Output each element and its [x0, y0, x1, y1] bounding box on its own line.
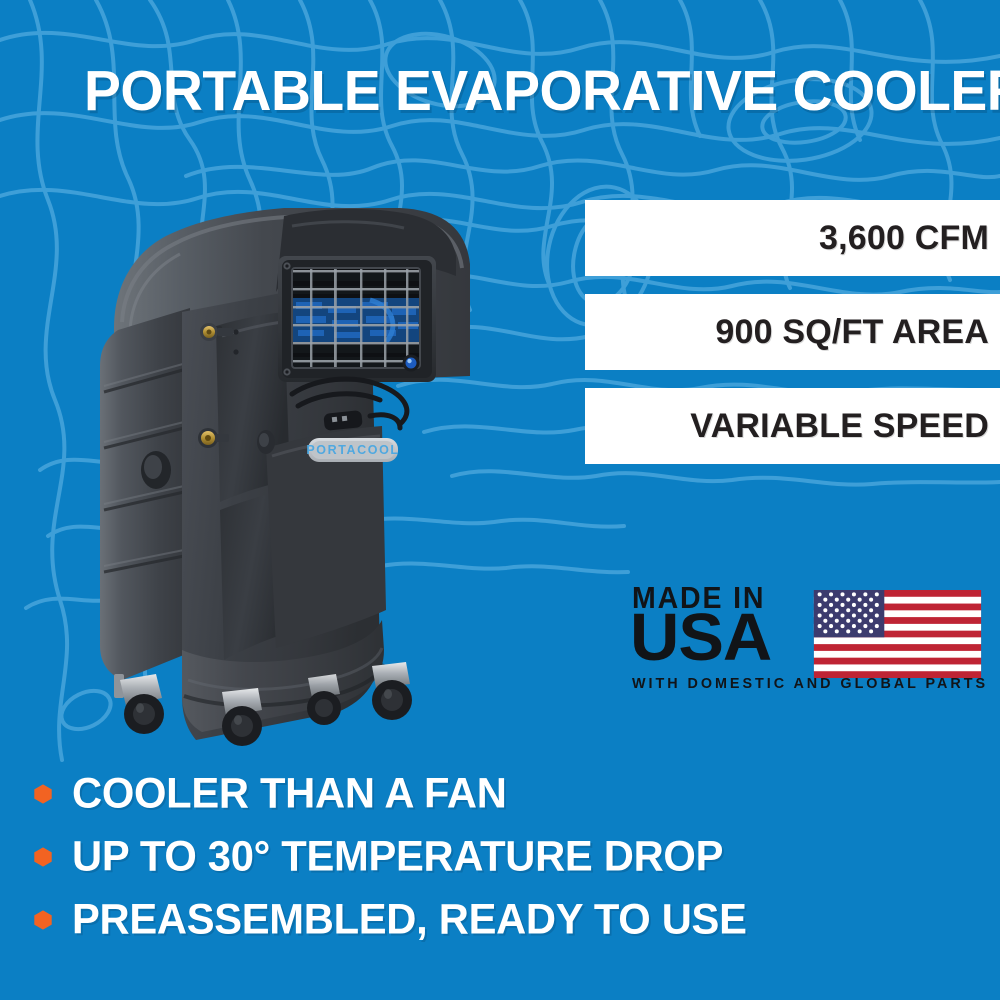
made-in-usa-badge: MADE IN USA — [630, 578, 988, 700]
caster-wheel — [222, 688, 262, 746]
product-marketing-image: PORTABLE EVAPORATIVE COOLER 3,600 CFM 90… — [0, 0, 1000, 1000]
caster-wheel — [114, 674, 164, 734]
hexagon-bullet-icon — [32, 846, 54, 868]
hexagon-bullet-icon — [32, 909, 54, 931]
feature-bullet-list: COOLER THAN A FAN UP TO 30° TEMPERATURE … — [32, 762, 972, 951]
american-flag-icon — [807, 590, 988, 678]
made-in-usa-subtitle: WITH DOMESTIC AND GLOBAL PARTS — [632, 676, 984, 692]
list-item: PREASSEMBLED, READY TO USE — [32, 888, 972, 951]
caster-wheel — [372, 662, 412, 720]
spec-box-cfm: 3,600 CFM — [585, 200, 1000, 276]
spec-box-speed: VARIABLE SPEED — [585, 388, 1000, 464]
hexagon-bullet-icon — [32, 783, 54, 805]
list-item: UP TO 30° TEMPERATURE DROP — [32, 825, 972, 888]
bullet-label: UP TO 30° TEMPERATURE DROP — [72, 832, 723, 881]
spec-label-area: 900 SQ/FT AREA — [715, 313, 989, 352]
bullet-label: COOLER THAN A FAN — [72, 769, 507, 818]
usa-label: USA — [630, 604, 771, 671]
list-item: COOLER THAN A FAN — [32, 762, 972, 825]
product-image-evaporative-cooler: PORTACOOL — [70, 180, 570, 750]
spec-label-speed: VARIABLE SPEED — [690, 407, 989, 446]
bullet-label: PREASSEMBLED, READY TO USE — [72, 895, 747, 944]
spec-box-area: 900 SQ/FT AREA — [585, 294, 1000, 370]
spec-label-cfm: 3,600 CFM — [819, 219, 989, 258]
caster-wheel — [307, 674, 341, 725]
page-title: PORTABLE EVAPORATIVE COOLER — [84, 62, 918, 120]
portacool-brand-badge: PORTACOOL — [306, 443, 399, 457]
